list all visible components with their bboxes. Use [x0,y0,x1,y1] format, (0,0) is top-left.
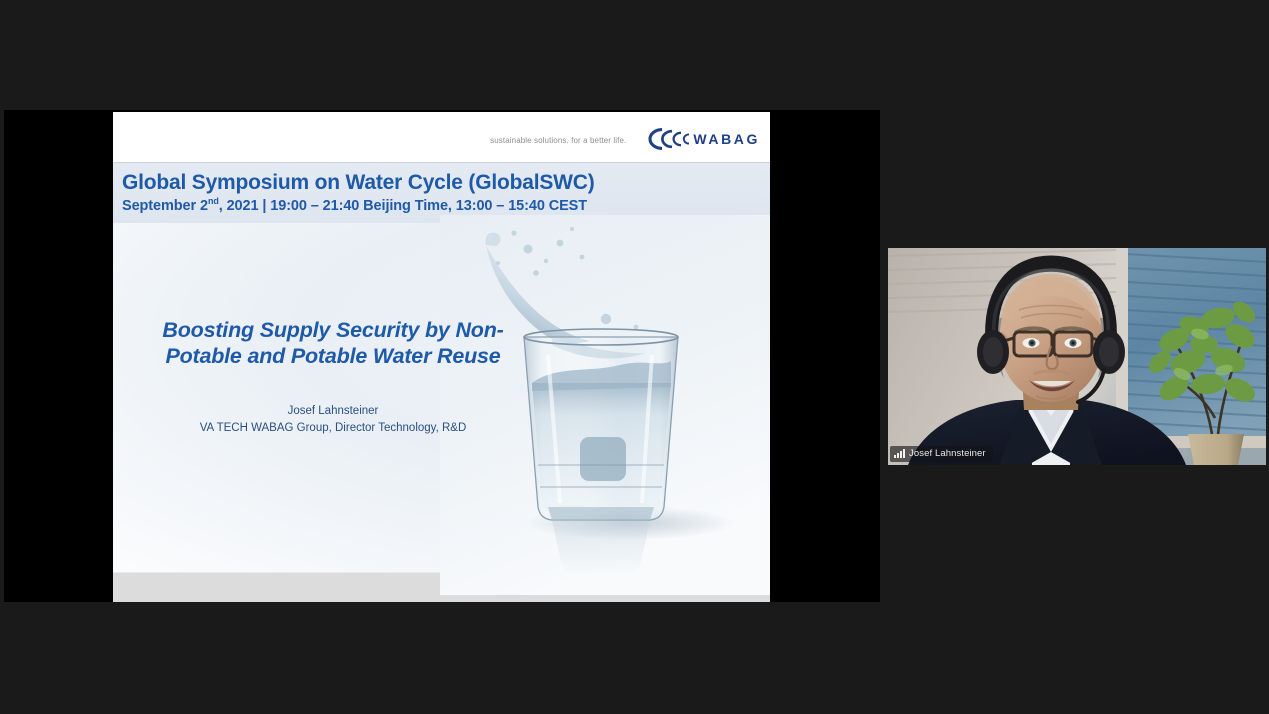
participant-video-tile[interactable]: Josef Lahnsteiner [888,248,1266,465]
slide-header: sustainable solutions. for a better life… [113,112,770,162]
wabag-arcs-logo [634,128,692,150]
date-prefix: September 2 [122,197,208,213]
slide-body: Boosting Supply Security by Non-Potable … [113,223,770,599]
wabag-logo-text: WABAG [693,131,760,147]
shared-slide[interactable]: sustainable solutions. for a better life… [113,112,770,602]
slide-title-band: Global Symposium on Water Cycle (GlobalS… [113,162,770,223]
participant-video-feed [888,248,1266,465]
signal-bars-icon [894,449,905,458]
wabag-logo: WABAG [634,128,760,150]
participant-name-label: Josef Lahnsteiner [909,448,986,459]
brand-tagline: sustainable solutions. for a better life… [490,136,626,145]
presenter-block: Josef Lahnsteiner VA TECH WABAG Group, D… [143,403,523,436]
presenter-role: VA TECH WABAG Group, Director Technology… [143,420,523,437]
participant-name-badge: Josef Lahnsteiner [890,446,993,462]
slide-headline: Boosting Supply Security by Non-Potable … [143,317,523,369]
slide-date-line: September 2nd, 2021 | 19:00 – 21:40 Beij… [122,196,770,216]
meeting-screen: sustainable solutions. for a better life… [0,0,1269,714]
date-ordinal: nd [208,196,219,206]
date-suffix: , 2021 | 19:00 – 21:40 Beijing Time, 13:… [219,197,587,213]
presenter-name: Josef Lahnsteiner [143,403,523,420]
slide-title: Global Symposium on Water Cycle (GlobalS… [122,171,770,195]
